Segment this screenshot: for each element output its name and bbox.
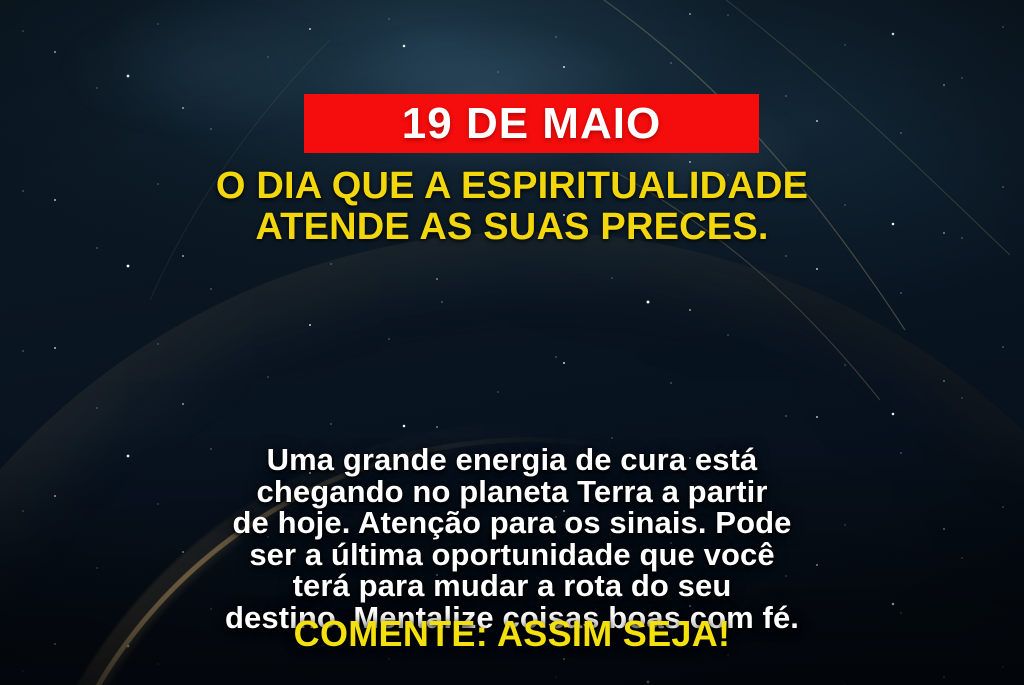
body-line-5: terá para mudar a rota do seu: [60, 570, 964, 602]
headline: O DIA QUE A ESPIRITUALIDADE ATENDE AS SU…: [0, 166, 1024, 248]
poster-content: 19 DE MAIO O DIA QUE A ESPIRITUALIDADE A…: [0, 0, 1024, 685]
headline-line-1: O DIA QUE A ESPIRITUALIDADE: [0, 166, 1024, 207]
call-to-action-text: COMENTE: ASSIM SEJA!: [0, 614, 1024, 654]
poster-canvas: 19 DE MAIO O DIA QUE A ESPIRITUALIDADE A…: [0, 0, 1024, 685]
date-banner: 19 DE MAIO: [304, 94, 759, 153]
headline-line-2: ATENDE AS SUAS PRECES.: [0, 207, 1024, 248]
body-line-2: chegando no planeta Terra a partir: [60, 476, 964, 508]
body-paragraph: Uma grande energia de cura está chegando…: [0, 444, 1024, 633]
body-line-1: Uma grande energia de cura está: [60, 444, 964, 476]
date-banner-label: 19 DE MAIO: [402, 102, 661, 146]
body-line-3: de hoje. Atenção para os sinais. Pode: [60, 507, 964, 539]
body-line-4: ser a última oportunidade que você: [60, 539, 964, 571]
